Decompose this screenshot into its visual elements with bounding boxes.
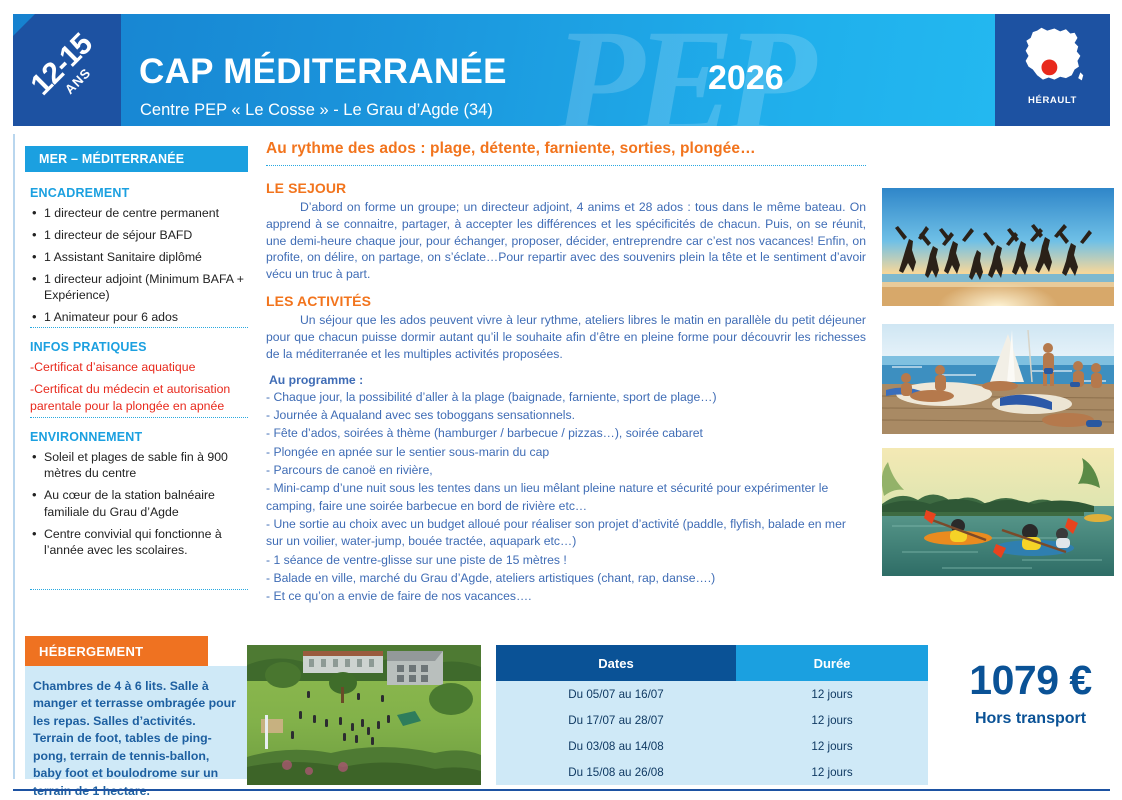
section-encadrement: ENCADREMENT 1 directeur de centre perman…	[30, 186, 248, 331]
list-item: - Plongée en apnée sur le sentier sous-m…	[266, 444, 866, 461]
list-item: 1 Assistant Sanitaire diplômé	[30, 249, 248, 265]
photo-beach-sunset	[882, 188, 1114, 306]
cell-dates: Du 03/08 au 14/08	[496, 733, 736, 759]
divider	[30, 417, 248, 418]
price-note: Hors transport	[948, 710, 1113, 728]
activites-heading: LES ACTIVITÉS	[266, 293, 866, 309]
table-row: Du 05/07 au 16/07 12 jours	[496, 681, 928, 707]
main-content: Au rythme des ados : plage, détente, far…	[266, 140, 866, 607]
section-title: ENVIRONNEMENT	[30, 430, 248, 444]
list-item: -Certificat du médecin et autorisation p…	[30, 381, 248, 414]
section-environnement: ENVIRONNEMENT Soleil et plages de sable …	[30, 430, 248, 564]
list-item: - 1 séance de ventre-glisse sur une pist…	[266, 552, 866, 569]
map-department-label: HÉRAULT	[1028, 95, 1077, 106]
list-item: - Journée à Aqualand avec ses toboggans …	[266, 407, 866, 424]
list-item: -Certificat d’aisance aquatique	[30, 359, 248, 375]
divider	[30, 327, 248, 328]
column-header-duree: Durée	[736, 645, 928, 681]
bottom-rule	[13, 789, 1110, 791]
year-label: 2026	[708, 59, 784, 98]
column-header-dates: Dates	[496, 645, 736, 681]
sidebar-banner-label: MER – MÉDITERRANÉE	[39, 152, 184, 166]
cell-dates: Du 05/07 au 16/07	[496, 681, 736, 707]
list-item: Au cœur de la station balnéaire familial…	[30, 487, 248, 520]
cell-duree: 12 jours	[736, 707, 928, 733]
location-dot	[1041, 59, 1057, 75]
photo-kayak-river	[882, 448, 1114, 576]
list-item: - Une sortie au choix avec un budget all…	[266, 516, 866, 551]
cell-duree: 12 jours	[736, 733, 928, 759]
list-item: Centre convivial qui fonctionne à l’anné…	[30, 526, 248, 559]
dates-table: Dates Durée Du 05/07 au 16/07 12 jours D…	[496, 645, 928, 785]
table-row: Du 03/08 au 14/08 12 jours	[496, 733, 928, 759]
age-badge-content: 12-15 ANS	[13, 14, 121, 126]
table-row: Du 15/08 au 26/08 12 jours	[496, 759, 928, 785]
table-header-row: Dates Durée	[496, 645, 928, 681]
divider	[266, 165, 866, 166]
page-title: CAP MÉDITERRANÉE	[139, 54, 507, 89]
section-title: INFOS PRATIQUES	[30, 340, 248, 354]
table-row: Du 17/07 au 28/07 12 jours	[496, 707, 928, 733]
sejour-text: D’abord on forme un groupe; un directeur…	[266, 199, 866, 283]
programme-list: - Chaque jour, la possibilité d’aller à …	[266, 389, 866, 606]
department-map-box: HÉRAULT	[995, 14, 1110, 126]
programme-label: Au programme :	[269, 373, 866, 387]
list-item: - Et ce qu’on a envie de faire de nos va…	[266, 588, 866, 605]
list-item: - Balade en ville, marché du Grau d’Agde…	[266, 570, 866, 587]
hebergement-title: HÉBERGEMENT	[39, 644, 143, 659]
main-heading: Au rythme des ados : plage, détente, far…	[266, 140, 866, 158]
page-header: PEP 12-15 ANS CAP MÉDITERRANÉE Centre PE…	[13, 14, 1110, 126]
list-item: - Fête d’ados, soirées à thème (hamburge…	[266, 425, 866, 442]
cell-dates: Du 15/08 au 26/08	[496, 759, 736, 785]
price-block: 1079 € Hors transport	[948, 660, 1113, 728]
photo-centre-aerial	[247, 645, 481, 785]
section-infos-pratiques: INFOS PRATIQUES -Certificat d’aisance aq…	[30, 340, 248, 420]
list-item: 1 directeur de centre permanent	[30, 205, 248, 221]
sejour-heading: LE SEJOUR	[266, 180, 866, 196]
list-item: Soleil et plages de sable fin à 900 mètr…	[30, 449, 248, 482]
price-amount: 1079 €	[948, 660, 1113, 701]
brochure-page: PEP 12-15 ANS CAP MÉDITERRANÉE Centre PE…	[0, 0, 1122, 793]
photo-sailboat-deck	[882, 324, 1114, 434]
list-item: - Parcours de canoë en rivière,	[266, 462, 866, 479]
cell-duree: 12 jours	[736, 681, 928, 707]
hebergement-text: Chambres de 4 à 6 lits. Salle à manger e…	[33, 678, 238, 800]
divider	[30, 589, 248, 590]
france-map-icon	[1017, 22, 1089, 94]
cell-duree: 12 jours	[736, 759, 928, 785]
list-item: - Chaque jour, la possibilité d’aller à …	[266, 389, 866, 406]
list-item: 1 directeur adjoint (Minimum BAFA + Expé…	[30, 271, 248, 304]
page-subtitle: Centre PEP « Le Cosse » - Le Grau d’Agde…	[140, 102, 493, 119]
section-title: ENCADREMENT	[30, 186, 248, 200]
list-item: 1 Animateur pour 6 ados	[30, 309, 248, 325]
hebergement-banner: HÉBERGEMENT	[25, 636, 208, 666]
sidebar-banner: MER – MÉDITERRANÉE	[25, 146, 248, 172]
activites-text: Un séjour que les ados peuvent vivre à l…	[266, 312, 866, 362]
list-item: 1 directeur de séjour BAFD	[30, 227, 248, 243]
cell-dates: Du 17/07 au 28/07	[496, 707, 736, 733]
list-item: - Mini-camp d’une nuit sous les tentes d…	[266, 480, 866, 515]
